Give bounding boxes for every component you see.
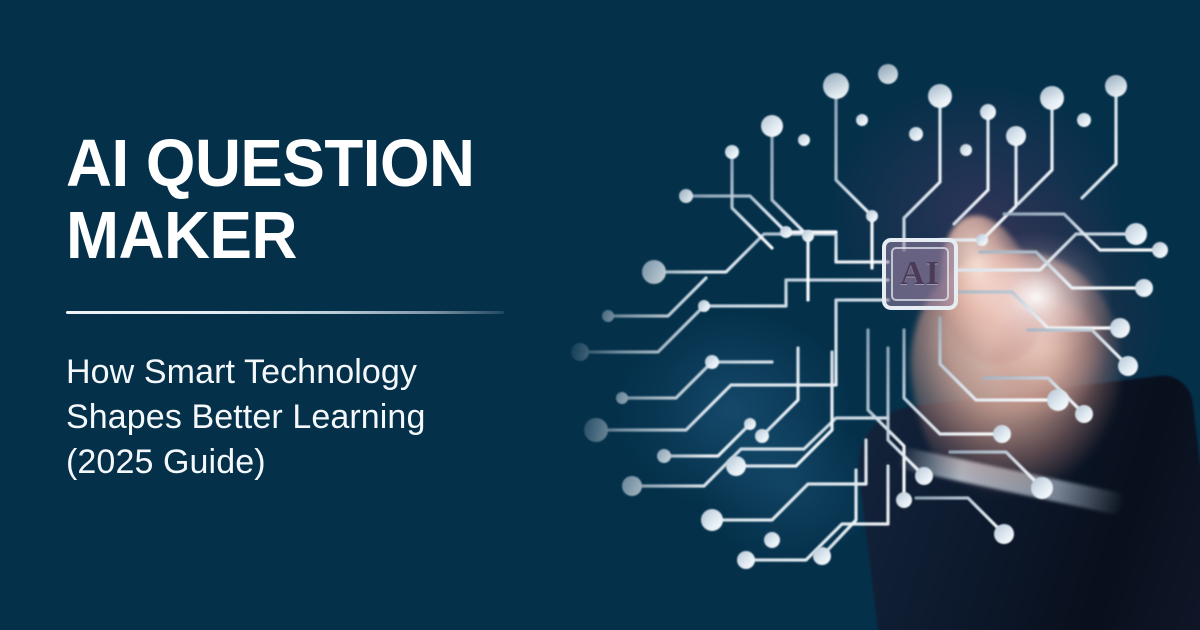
- social-card: AI AI QUESTION MAKER How Smart Technolog…: [0, 0, 1200, 630]
- page-title-line-1: AI QUESTION: [66, 126, 475, 201]
- text-block: AI QUESTION MAKER How Smart Technology S…: [66, 128, 526, 485]
- ai-chip-label: AI: [900, 255, 940, 293]
- page-title-line-2: MAKER: [66, 198, 297, 273]
- hero-image: AI: [536, 0, 1200, 630]
- page-subtitle-line-3: (2025 Guide): [66, 440, 496, 485]
- page-subtitle-line-1: How Smart Technology: [66, 350, 496, 395]
- page-subtitle-line-2: Shapes Better Learning: [66, 395, 496, 440]
- page-title: AI QUESTION MAKER: [66, 128, 503, 271]
- title-divider: [66, 311, 504, 314]
- page-subtitle: How Smart Technology Shapes Better Learn…: [66, 350, 496, 485]
- circuit-brain-graphic: AI: [536, 0, 1200, 630]
